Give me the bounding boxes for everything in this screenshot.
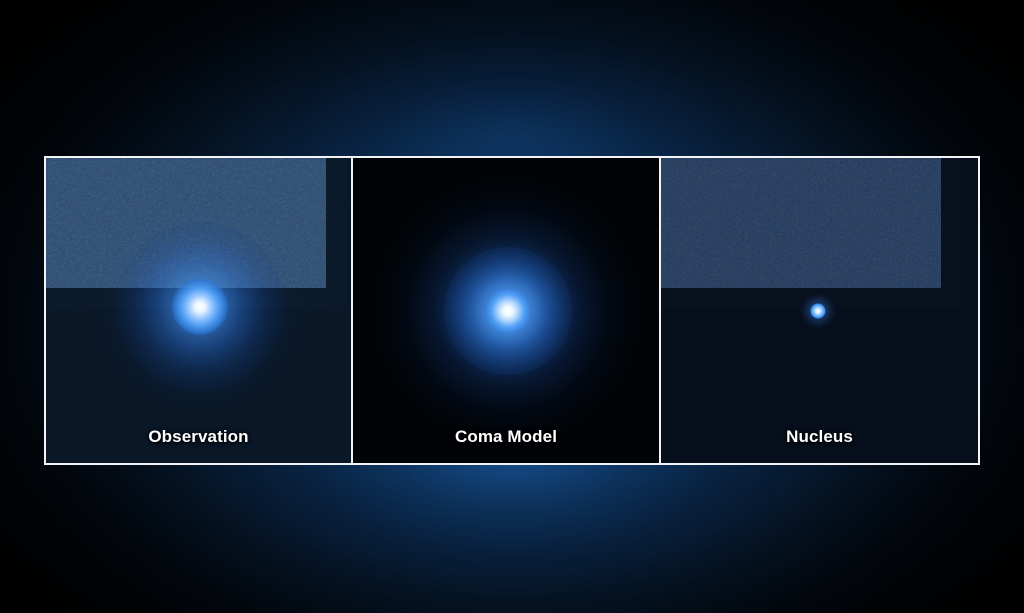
- panel-nucleus: Nucleus: [659, 158, 978, 463]
- figure-canvas: Observation Coma Model: [0, 0, 1024, 613]
- panel-coma-model: Coma Model: [351, 158, 659, 463]
- observation-sky-field: [46, 158, 351, 463]
- coma-model-field: [353, 158, 659, 463]
- three-panel-comparison-frame: Observation Coma Model: [44, 156, 980, 465]
- panel-observation: Observation: [46, 158, 351, 463]
- nucleus-sky-field: [661, 158, 978, 463]
